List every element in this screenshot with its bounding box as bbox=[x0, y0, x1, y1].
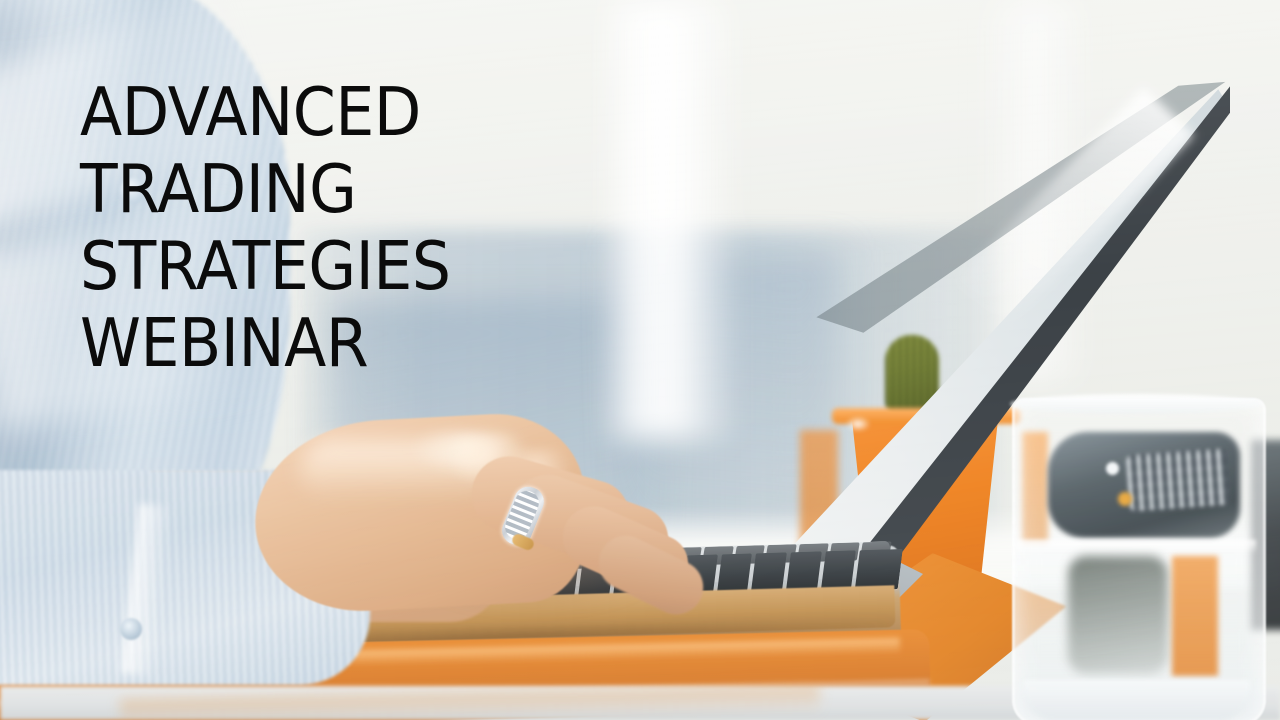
shirt-cuff-button bbox=[120, 618, 142, 640]
glass-base bbox=[1024, 680, 1250, 720]
telephone-highlight bbox=[1106, 462, 1119, 475]
keyboard-key bbox=[717, 553, 753, 594]
keyboard-key bbox=[751, 552, 787, 593]
refraction-lower-dark bbox=[1068, 556, 1168, 674]
keyboard-key bbox=[820, 550, 856, 591]
telephone-keypad-refraction bbox=[1126, 449, 1230, 512]
keyboard-key bbox=[786, 551, 822, 592]
refraction-lower-orange bbox=[1172, 556, 1218, 676]
page-title: ADVANCED TRADING STRATEGIES WEBINAR bbox=[80, 74, 669, 382]
keyboard-key bbox=[855, 549, 903, 590]
water-surface-line bbox=[1016, 540, 1256, 552]
telephone-indicator-light bbox=[1118, 492, 1132, 506]
webinar-title-slide: ADVANCED TRADING STRATEGIES WEBINAR bbox=[0, 0, 1280, 720]
glass-rim bbox=[1010, 394, 1262, 414]
